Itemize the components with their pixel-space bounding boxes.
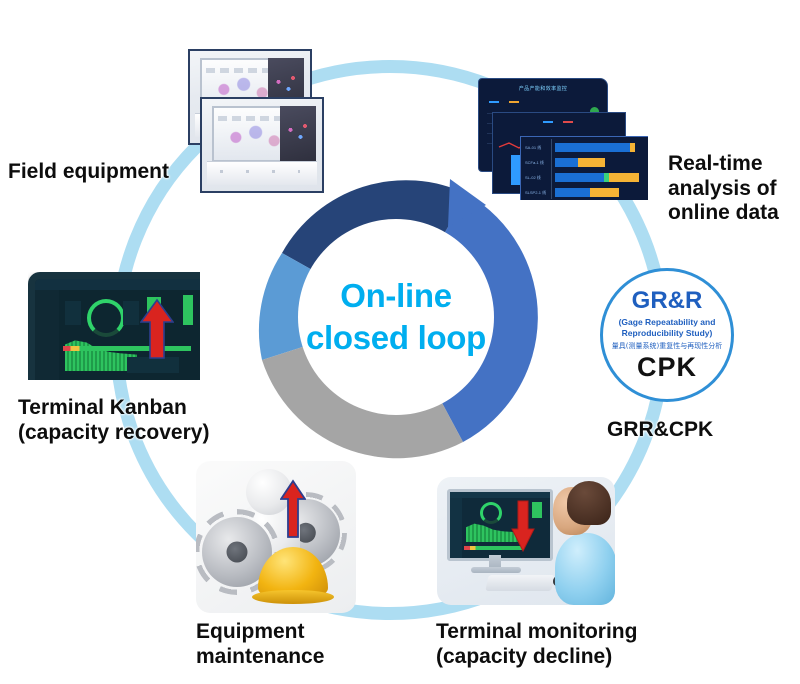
label-terminal-kanban-line-2: (capacity recovery) (18, 421, 209, 446)
field-equipment-image[interactable] (182, 47, 330, 197)
label-field-equipment-text: Field equipment (8, 160, 169, 185)
label-terminal-monitoring: Terminal monitoring (capacity decline) (436, 620, 637, 669)
label-real-time-line-1: Real-time (668, 152, 779, 177)
label-real-time-line-3: online data (668, 201, 779, 226)
label-equipment-maintenance-line-2: maintenance (196, 645, 324, 670)
real-time-dashboard-stack[interactable]: 产品产能和效率监控 (472, 78, 648, 200)
hard-hat-brim (252, 590, 335, 604)
hbar-1 (555, 158, 605, 167)
kanban-gauge (87, 299, 125, 337)
label-equipment-maintenance-line-1: Equipment (196, 620, 324, 645)
legend-item-measured (563, 119, 573, 123)
label-terminal-monitoring-line-2: (capacity decline) (436, 645, 637, 670)
terminal-kanban-image[interactable] (28, 272, 200, 380)
hbar-label-2: SL-02 线 (525, 175, 541, 181)
dashboard-back-legend (489, 99, 519, 103)
keyboard (485, 575, 554, 591)
center-donut-chart (254, 175, 538, 459)
terminal-monitoring-image[interactable] (437, 477, 615, 605)
kanban-kpi-left (65, 301, 81, 325)
person-hair (567, 481, 611, 525)
hbar-2 (555, 173, 639, 182)
gear-left-hub (227, 542, 248, 563)
monitor-screen-toolbar (450, 492, 550, 498)
hbar-2-threshold (604, 173, 609, 182)
equipment-base-front (207, 161, 317, 186)
kanban-red-up-arrow (140, 298, 174, 360)
label-equipment-maintenance: Equipment maintenance (196, 620, 324, 669)
donut-hole (298, 219, 494, 415)
diagram-canvas: On-line closed loop Field equipment 产品产能… (0, 0, 800, 684)
legend-item-efficiency (489, 99, 499, 103)
monitoring-red-down-arrow (511, 499, 535, 553)
dashboard-panel-front: SA-01 线 SCFa-1 线 SL-02 线 SLSP2-1 线 (520, 136, 648, 200)
equipment-dark-module-front (280, 106, 316, 163)
grr-badge-subtitle-1: (Gage Repeatability and (619, 317, 716, 328)
monitor-stand-base (471, 567, 521, 573)
grr-cpk-badge[interactable]: GR&R (Gage Repeatability and Reproducibi… (600, 268, 734, 402)
grr-badge-cpk: CPK (637, 354, 697, 381)
hbar-label-3: SLSP2-1 线 (525, 190, 546, 196)
label-terminal-monitoring-line-1: Terminal monitoring (436, 620, 637, 645)
equipment-photo-front (200, 97, 324, 193)
legend-item-capacity (509, 99, 519, 103)
legend-swatch-efficiency (489, 101, 499, 103)
hbar-3 (555, 188, 619, 197)
kanban-green-bar-2 (183, 295, 193, 325)
label-real-time-line-2: analysis of (668, 177, 779, 202)
label-field-equipment: Field equipment (8, 160, 169, 185)
legend-swatch-standard (543, 121, 553, 123)
maintenance-red-up-arrow (280, 479, 306, 539)
monitor-screen-sidebar (450, 498, 462, 558)
label-terminal-kanban-line-1: Terminal Kanban (18, 396, 209, 421)
kanban-kpi-right (123, 301, 139, 325)
dashboard-middle-legend (543, 119, 573, 123)
label-real-time-analysis: Real-time analysis of online data (668, 152, 779, 226)
grr-badge-subtitle-2: Reproducibility Study) (622, 328, 713, 339)
legend-swatch-measured (563, 121, 573, 123)
equipment-maintenance-image[interactable] (196, 461, 356, 613)
kanban-sidebar (35, 290, 59, 380)
hbar-label-0: SA-01 线 (525, 145, 541, 151)
grr-badge-title: GR&R (632, 289, 703, 313)
legend-item-standard (543, 119, 553, 123)
legend-swatch-capacity (509, 101, 519, 103)
dashboard-back-title: 产品产能和效率监控 (479, 85, 607, 92)
label-terminal-kanban: Terminal Kanban (capacity recovery) (18, 396, 209, 445)
hbar-label-1: SCFa-1 线 (525, 160, 544, 166)
grr-badge-chinese-text: 量具(测量系统)重复性与再现性分析 (612, 342, 722, 350)
person-body (555, 533, 615, 605)
kanban-tablet-device (28, 272, 200, 380)
hbar-0 (555, 143, 635, 152)
monitor-gauge (480, 502, 502, 524)
kanban-toolbar (35, 279, 200, 290)
monitor-screen (447, 489, 553, 561)
label-grr-cpk-text: GRR&CPK (607, 418, 713, 443)
label-grr-cpk: GRR&CPK (607, 418, 713, 443)
